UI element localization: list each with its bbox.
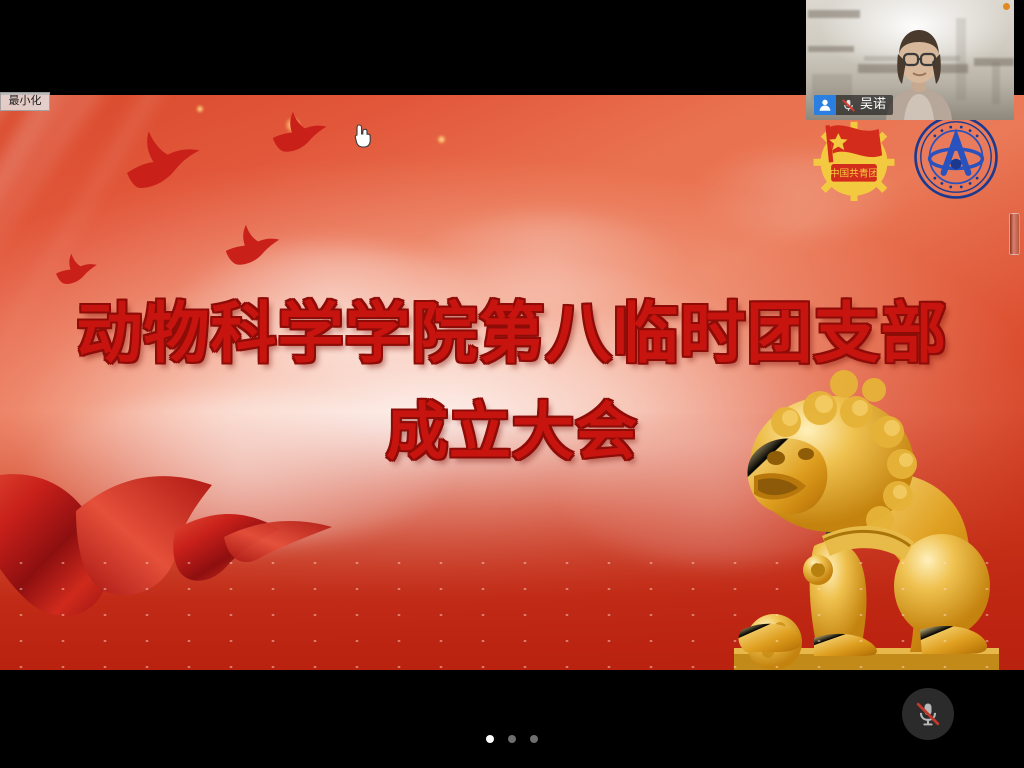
mic-muted-icon <box>914 700 942 728</box>
participant-name: 吴诺 <box>860 95 886 115</box>
glint-decoration <box>196 105 204 113</box>
emblem-group: 中国共青团 <box>810 113 1000 201</box>
person-icon <box>814 95 836 115</box>
recording-dot-icon <box>1003 3 1010 10</box>
dove-icon <box>120 123 204 193</box>
meeting-screen-share-view: 中国共青团 <box>0 0 1024 768</box>
page-dot-1[interactable] <box>486 735 494 743</box>
participant-video-tile[interactable]: 吴诺 <box>806 0 1014 120</box>
page-indicator-dots[interactable] <box>0 735 1024 743</box>
cloud-decoration <box>420 215 680 305</box>
communist-youth-league-emblem: 中国共青团 <box>810 113 898 201</box>
svg-text:中国共青团: 中国共青团 <box>830 166 878 179</box>
mic-muted-icon <box>841 98 856 113</box>
slide-edge-scrollbar[interactable] <box>1009 213 1020 255</box>
golden-guardian-lion-decoration <box>714 360 1014 670</box>
dove-icon <box>222 220 282 270</box>
participant-silhouette <box>884 24 954 120</box>
university-emblem <box>912 113 1000 201</box>
page-dot-2[interactable] <box>508 735 516 743</box>
minimize-button[interactable]: 最小化 <box>0 92 50 111</box>
red-silk-ribbon-decoration <box>0 425 410 665</box>
glint-decoration <box>437 135 446 144</box>
hand-pointer-cursor <box>352 123 374 149</box>
bottom-control-bar <box>0 670 1024 768</box>
dove-icon <box>268 107 330 157</box>
participant-name-label: 吴诺 <box>814 95 893 115</box>
shared-slide-area[interactable]: 中国共青团 <box>0 95 1024 670</box>
page-dot-3[interactable] <box>530 735 538 743</box>
mic-toggle-button[interactable] <box>902 688 954 740</box>
dove-icon <box>52 250 100 288</box>
